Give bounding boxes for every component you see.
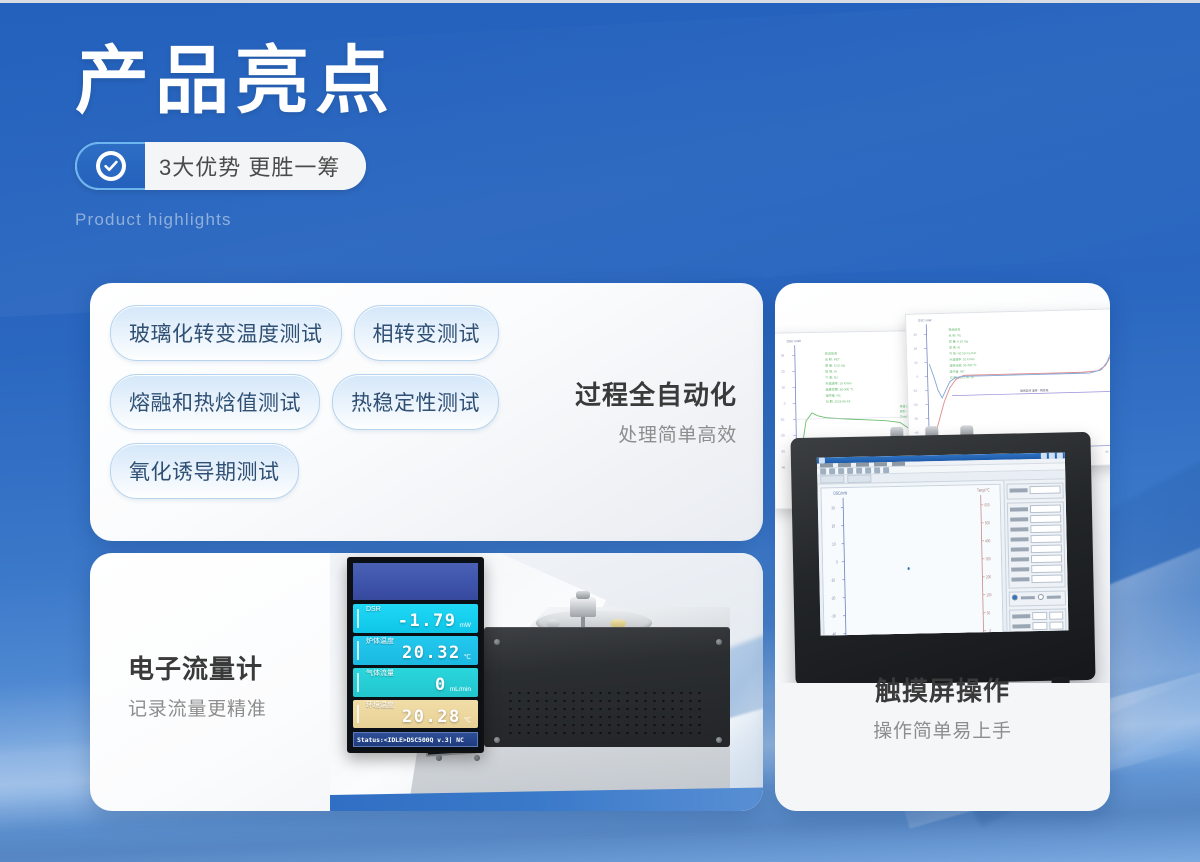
toolbar-icon[interactable] bbox=[865, 467, 871, 473]
readout-row-dsr: DSR -1.79 mW bbox=[353, 604, 478, 633]
radio-icon[interactable] bbox=[1038, 594, 1044, 600]
top-divider-line bbox=[0, 0, 1200, 3]
feature-tag[interactable]: 氧化诱导期测试 bbox=[110, 443, 299, 499]
instrument-screw bbox=[716, 737, 722, 743]
field-label bbox=[1010, 527, 1028, 531]
readout-row-ambient-temperature: 环境温度 20.28 ℃ bbox=[353, 700, 478, 729]
field-label bbox=[1011, 537, 1029, 541]
svg-text:操作者: NC: 操作者: NC bbox=[949, 368, 965, 373]
field-input[interactable] bbox=[1031, 555, 1062, 564]
menu-item[interactable] bbox=[838, 463, 851, 467]
card-touchscreen-operation: 302010 0-10-20 -30-40 DSC /mW 样品信息名 称: P… bbox=[775, 283, 1110, 811]
svg-text:30: 30 bbox=[913, 333, 917, 337]
svg-text:10: 10 bbox=[914, 361, 918, 365]
feature-tag[interactable]: 熔融和热焓值测试 bbox=[110, 374, 320, 430]
caption-title: 过程全自动化 bbox=[537, 379, 737, 413]
svg-text:600: 600 bbox=[984, 503, 989, 508]
readout-header-bar bbox=[353, 563, 478, 600]
menu-item[interactable] bbox=[856, 463, 869, 467]
svg-text:日 期: 2023-06-18: 日 期: 2023-06-18 bbox=[826, 398, 851, 403]
svg-text:样品信息: 样品信息 bbox=[948, 326, 960, 331]
svg-text:50: 50 bbox=[987, 611, 991, 616]
parameter-field[interactable] bbox=[1009, 486, 1060, 495]
feature-tag[interactable]: 热稳定性测试 bbox=[332, 374, 499, 430]
readout-value: 0 bbox=[435, 677, 447, 695]
svg-text:-10: -10 bbox=[830, 578, 835, 583]
svg-text:名 称: PET: 名 称: PET bbox=[825, 356, 840, 361]
svg-text:30: 30 bbox=[781, 353, 785, 357]
field-input[interactable] bbox=[1032, 622, 1047, 630]
field-input[interactable] bbox=[1032, 612, 1047, 620]
feature-tag[interactable]: 玻璃化转变温度测试 bbox=[110, 305, 342, 361]
badge-text-area: 3大优势 更胜一筹 bbox=[145, 142, 366, 190]
svg-text:温度范围: 30-300 ℃: 温度范围: 30-300 ℃ bbox=[825, 386, 854, 391]
field-label bbox=[1010, 507, 1028, 511]
toolbar-icon[interactable] bbox=[829, 468, 835, 474]
svg-text:DSC /mW: DSC /mW bbox=[918, 318, 932, 322]
menu-item[interactable] bbox=[874, 462, 887, 466]
svg-text:400: 400 bbox=[985, 539, 990, 544]
svg-text:-10: -10 bbox=[780, 417, 785, 421]
feature-tag-row: 玻璃化转变温度测试 相转变测试 bbox=[110, 305, 565, 361]
badge-label: 3大优势 更胜一筹 bbox=[159, 150, 340, 182]
instrument-vent-grid bbox=[506, 689, 706, 735]
dsc-software-window: 302010 0-10-20 -30-40 600500400 30020010… bbox=[817, 452, 1069, 635]
field-input[interactable] bbox=[1029, 486, 1060, 495]
field-label bbox=[1010, 517, 1028, 521]
svg-text:-30: -30 bbox=[914, 417, 919, 421]
svg-text:升温速率: 10 K/min: 升温速率: 10 K/min bbox=[825, 380, 852, 385]
svg-text:坩 埚: Al: 坩 埚: Al bbox=[825, 369, 837, 374]
svg-text:300: 300 bbox=[986, 557, 991, 562]
tab-measurement[interactable] bbox=[820, 475, 844, 484]
readout-status-bar: Status:<IDLE>DSC500Q v.3| NC bbox=[353, 732, 478, 747]
svg-text:-30: -30 bbox=[781, 449, 786, 453]
parameter-field[interactable] bbox=[1010, 505, 1061, 514]
toolbar-icon[interactable] bbox=[847, 468, 853, 474]
svg-text:Temp/℃: Temp/℃ bbox=[977, 487, 990, 493]
instrument-screw bbox=[494, 639, 500, 645]
readout-rows: DSR -1.79 mW 炉体温度 20.32 ℃ 气体流量 0 mL/min bbox=[353, 604, 478, 728]
page-subtitle: Product highlights bbox=[75, 210, 395, 230]
svg-text:20: 20 bbox=[914, 347, 918, 351]
card-process-automation: 玻璃化转变温度测试 相转变测试 熔融和热焓值测试 热稳定性测试 氧化诱导期测试 … bbox=[90, 283, 763, 541]
readout-row-gas-flow: 气体流量 0 mL/min bbox=[353, 668, 478, 697]
field-input[interactable] bbox=[1049, 611, 1064, 619]
monitor-screen[interactable]: 302010 0-10-20 -30-40 600500400 30020010… bbox=[817, 452, 1069, 635]
readout-value-line: 20.32 ℃ bbox=[360, 645, 471, 663]
toolbar-icon[interactable] bbox=[838, 468, 844, 474]
instrument-screw bbox=[474, 755, 480, 761]
svg-text:名 称: PE: 名 称: PE bbox=[948, 332, 961, 337]
field-input[interactable] bbox=[1031, 565, 1062, 574]
feature-tag[interactable]: 相转变测试 bbox=[354, 305, 500, 361]
svg-text:基线区间 温度 - 稳定段: 基线区间 温度 - 稳定段 bbox=[1020, 388, 1049, 393]
tab-analysis[interactable] bbox=[847, 474, 871, 483]
parameter-field[interactable] bbox=[1011, 545, 1062, 554]
svg-text:DSC /mW: DSC /mW bbox=[787, 339, 801, 343]
card-caption-process-automation: 过程全自动化 处理简单高效 bbox=[537, 379, 737, 447]
svg-text:-20: -20 bbox=[913, 403, 918, 407]
parameter-field[interactable] bbox=[1011, 575, 1062, 584]
caption-subtitle: 处理简单高效 bbox=[537, 420, 737, 447]
page-header: 产品亮点 3大优势 更胜一筹 Product highlights bbox=[75, 44, 395, 230]
parameter-field[interactable] bbox=[1011, 555, 1062, 564]
field-label bbox=[1011, 567, 1029, 571]
touchscreen-photo: 302010 0-10-20 -30-40 DSC /mW 样品信息名 称: P… bbox=[775, 283, 1110, 683]
check-circle-icon bbox=[96, 151, 126, 181]
svg-text:升温速率: 10 K/min: 升温速率: 10 K/min bbox=[949, 356, 975, 362]
feature-tag-row: 熔融和热焓值测试 热稳定性测试 bbox=[110, 374, 565, 430]
readout-value-line: -1.79 mW bbox=[360, 613, 471, 631]
svg-text:10: 10 bbox=[832, 542, 836, 547]
field-label bbox=[1012, 624, 1030, 628]
badge-icon-area bbox=[75, 142, 145, 190]
software-body: 302010 0-10-20 -30-40 600500400 30020010… bbox=[817, 479, 1068, 635]
svg-text:100: 100 bbox=[986, 593, 991, 598]
instrument-knob bbox=[570, 597, 596, 617]
svg-text:10: 10 bbox=[781, 385, 785, 389]
toolbar-icon[interactable] bbox=[883, 467, 889, 473]
parameter-field[interactable] bbox=[1010, 515, 1061, 524]
readout-value: 20.32 bbox=[402, 645, 461, 663]
caption-subtitle: 操作简单易上手 bbox=[775, 716, 1110, 743]
svg-text:-40: -40 bbox=[832, 632, 837, 635]
svg-text:-10: -10 bbox=[913, 389, 918, 393]
toolbar-icon[interactable] bbox=[820, 468, 826, 474]
svg-text:温度范围: 30-400 ℃: 温度范围: 30-400 ℃ bbox=[949, 362, 977, 368]
readout-value-line: 20.28 ℃ bbox=[360, 709, 471, 727]
svg-text:-30: -30 bbox=[831, 614, 836, 619]
field-label bbox=[1011, 577, 1029, 581]
page-title: 产品亮点 bbox=[75, 44, 395, 118]
field-label bbox=[1011, 557, 1029, 561]
toolbar-icon[interactable] bbox=[874, 467, 880, 473]
svg-text:20: 20 bbox=[781, 369, 785, 373]
field-label bbox=[1012, 614, 1030, 618]
svg-text:-40: -40 bbox=[781, 465, 786, 469]
feature-tag-row: 氧化诱导期测试 bbox=[110, 443, 565, 499]
readout-value-line: 0 mL/min bbox=[360, 677, 471, 695]
caption-title: 触摸屏操作 bbox=[775, 675, 1110, 709]
field-input[interactable] bbox=[1030, 525, 1061, 534]
page-root: 产品亮点 3大优势 更胜一筹 Product highlights 玻璃化转变温… bbox=[0, 0, 1200, 862]
menu-item[interactable] bbox=[820, 463, 833, 467]
live-acquisition-chart: 302010 0-10-20 -30-40 600500400 30020010… bbox=[821, 485, 1003, 636]
svg-text:200: 200 bbox=[986, 575, 991, 580]
readout-unit: mL/min bbox=[450, 686, 471, 693]
readout-label: 气体流量 bbox=[366, 670, 473, 677]
readout-status-text: Status:<IDLE>DSC500Q v.3| NC bbox=[357, 736, 464, 744]
parameter-field[interactable] bbox=[1012, 611, 1063, 620]
svg-text:500: 500 bbox=[985, 521, 990, 526]
parameter-group-readings bbox=[1007, 501, 1066, 588]
field-input[interactable] bbox=[1031, 545, 1062, 554]
svg-text:气 氛: N2: 气 氛: N2 bbox=[825, 374, 838, 379]
parameter-group-mode bbox=[1009, 590, 1066, 606]
svg-text:20: 20 bbox=[832, 524, 836, 529]
highlight-badge: 3大优势 更胜一筹 bbox=[75, 142, 366, 190]
instrument-screw bbox=[494, 737, 500, 743]
touchscreen-monitor[interactable]: 302010 0-10-20 -30-40 600500400 30020010… bbox=[790, 432, 1095, 683]
parameter-field[interactable] bbox=[1011, 535, 1062, 544]
parameter-field[interactable] bbox=[1012, 621, 1063, 630]
parameter-field[interactable] bbox=[1011, 565, 1062, 574]
mode-radio-group[interactable] bbox=[1012, 593, 1063, 600]
software-parameter-panel[interactable] bbox=[1003, 479, 1068, 635]
card-caption-touchscreen: 触摸屏操作 操作简单易上手 bbox=[775, 675, 1110, 743]
svg-text:质 量: 5.20 mg: 质 量: 5.20 mg bbox=[825, 362, 845, 367]
field-input[interactable] bbox=[1031, 575, 1062, 584]
radio-selected-icon[interactable] bbox=[1012, 594, 1018, 600]
svg-text:DSC/mW: DSC/mW bbox=[833, 490, 847, 496]
readout-unit: ℃ bbox=[464, 653, 471, 661]
parameter-field[interactable] bbox=[1010, 525, 1061, 534]
feature-tag-list: 玻璃化转变温度测试 相转变测试 熔融和热焓值测试 热稳定性测试 氧化诱导期测试 bbox=[110, 305, 565, 512]
readout-value: -1.79 bbox=[398, 613, 457, 631]
parameter-group-sample bbox=[1006, 482, 1063, 499]
readout-unit: ℃ bbox=[464, 716, 471, 724]
readout-unit: mW bbox=[459, 622, 471, 629]
software-plot-area[interactable]: 302010 0-10-20 -30-40 600500400 30020010… bbox=[820, 484, 1004, 636]
field-input[interactable] bbox=[1030, 505, 1061, 514]
readout-value: 20.28 bbox=[402, 709, 461, 727]
menu-item[interactable] bbox=[892, 462, 905, 466]
instrument-screw bbox=[716, 639, 722, 645]
radio-label bbox=[1021, 596, 1035, 599]
svg-text:0: 0 bbox=[836, 560, 838, 565]
svg-text:操作者: NC: 操作者: NC bbox=[826, 392, 842, 397]
toolbar-icon[interactable] bbox=[856, 468, 862, 474]
svg-text:-20: -20 bbox=[780, 433, 785, 437]
field-input[interactable] bbox=[1031, 535, 1062, 544]
svg-text:坩 埚: Al: 坩 埚: Al bbox=[949, 344, 961, 349]
svg-text:质 量: 6.10 mg: 质 量: 6.10 mg bbox=[949, 338, 969, 344]
readout-row-furnace-temperature: 炉体温度 20.32 ℃ bbox=[353, 636, 478, 665]
control-panel-readout[interactable]: DSR -1.79 mW 炉体温度 20.32 ℃ 气体流量 0 mL/min bbox=[347, 557, 484, 753]
svg-text:30: 30 bbox=[831, 506, 835, 511]
radio-label bbox=[1047, 595, 1061, 598]
field-input[interactable] bbox=[1049, 621, 1064, 629]
field-label bbox=[1011, 547, 1029, 551]
svg-text:样品信息: 样品信息 bbox=[825, 351, 837, 356]
field-label bbox=[1010, 488, 1028, 492]
svg-text:气 氛: N2 50 mL/min: 气 氛: N2 50 mL/min bbox=[949, 350, 977, 356]
svg-text:-20: -20 bbox=[831, 596, 836, 601]
field-input[interactable] bbox=[1030, 515, 1061, 524]
